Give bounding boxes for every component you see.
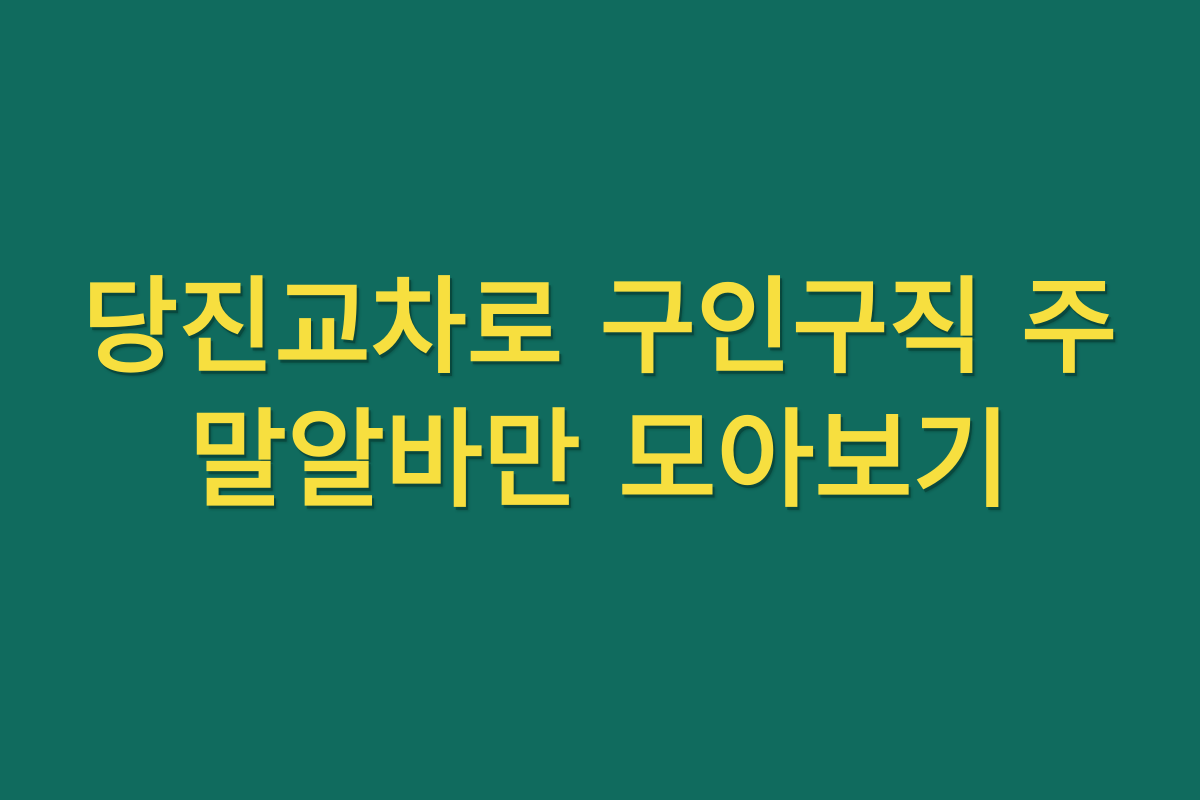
headline-line-2: 말알바만 모아보기 (50, 394, 1150, 528)
headline-block: 당진교차로 구인구직 주 말알바만 모아보기 (50, 260, 1150, 528)
banner-canvas: 당진교차로 구인구직 주 말알바만 모아보기 (0, 0, 1200, 800)
headline-line-1: 당진교차로 구인구직 주 (50, 260, 1150, 394)
